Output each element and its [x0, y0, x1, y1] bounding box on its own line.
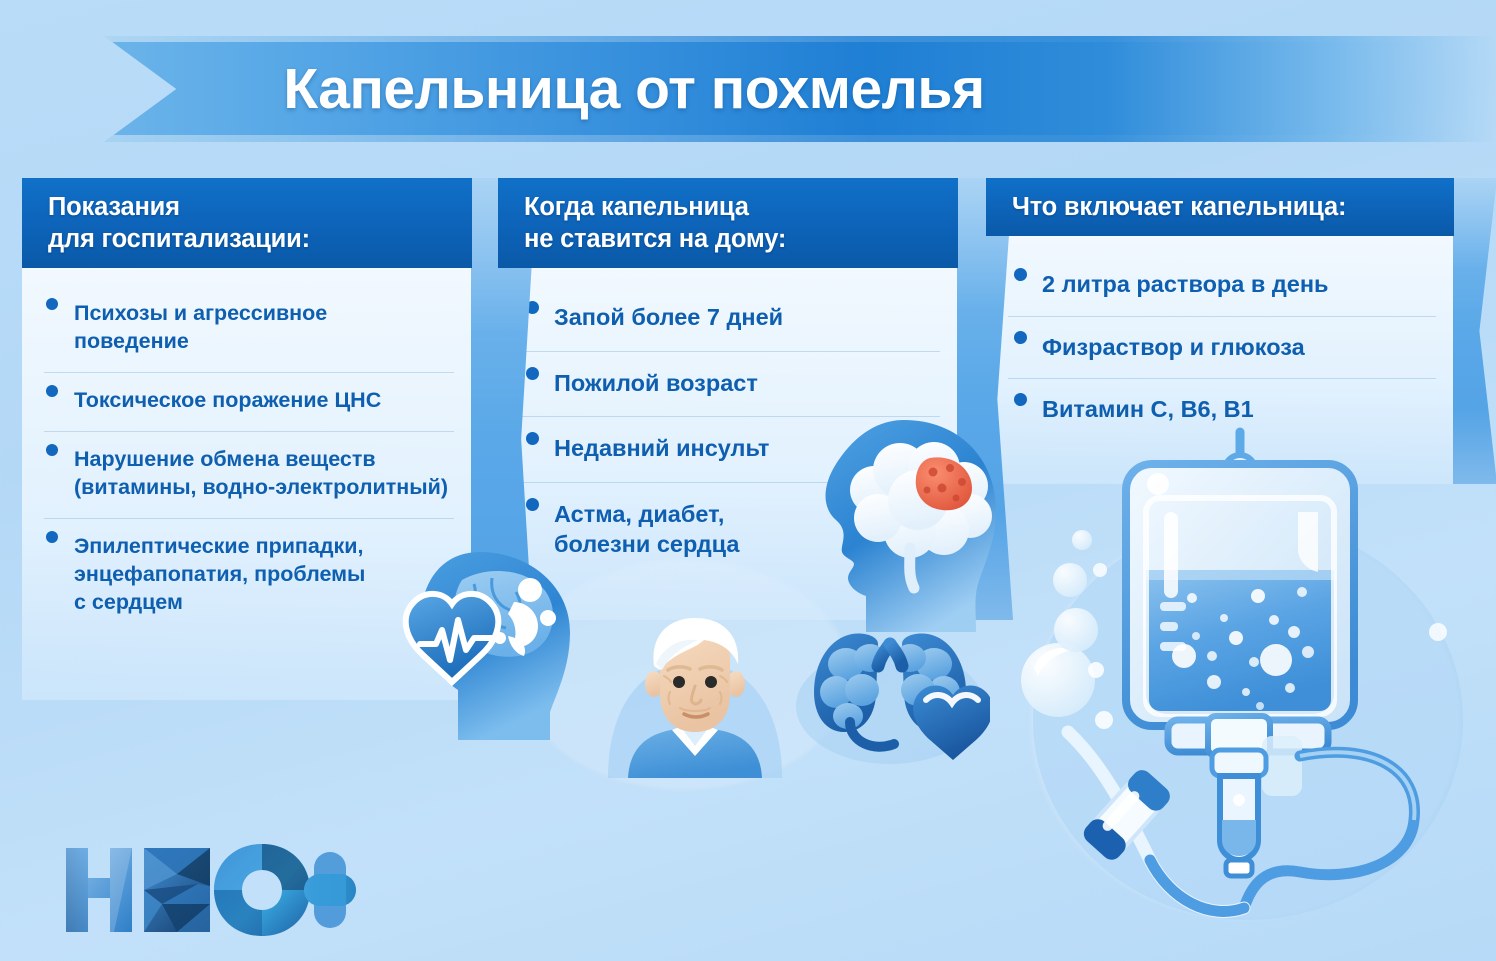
bullet-dot-icon	[46, 531, 58, 543]
list-item-label: Астма, диабет, болезни сердца	[554, 499, 936, 560]
panel-header-line: Когда капельница	[524, 191, 938, 223]
list-item-label: Психозы и агрессивное поведение	[74, 300, 450, 356]
contents-list: 2 литра раствора в день Физраствор и глю…	[1008, 254, 1436, 441]
panel-body-indications: Психозы и агрессивное поведение Токсичес…	[22, 268, 472, 700]
list-item-label: Нарушение обмена веществ (витамины, водн…	[74, 446, 450, 502]
panel-body-contraindications: Запой более 7 дней Пожилой возраст Недав…	[498, 268, 958, 620]
list-item[interactable]: Астма, диабет, болезни сердца	[520, 482, 940, 578]
header-tail-contents	[1453, 178, 1496, 484]
list-item-label: Физраствор и глюкоза	[1042, 332, 1432, 363]
panel-header-line: для госпитализации:	[48, 223, 452, 255]
bullet-dot-icon	[1014, 268, 1027, 281]
list-item[interactable]: Эпилептические припадки, энцефапопатия, …	[44, 518, 454, 633]
list-item-label: 2 литра раствора в день	[1042, 269, 1432, 300]
page-title: Капельница от похмелья	[104, 36, 1164, 142]
list-item[interactable]: Пожилой возраст	[520, 351, 940, 417]
panel-header-indications: Показания для госпитализации:	[22, 178, 472, 268]
list-item[interactable]: Психозы и агрессивное поведение	[44, 286, 454, 372]
brand-logo[interactable]	[58, 838, 358, 942]
bullet-dot-icon	[46, 444, 58, 456]
panel-contents: Что включает капельница: 2 литра раствор…	[986, 178, 1454, 484]
panel-header-contraindications: Когда капельница не ставится на дому:	[498, 178, 958, 268]
bullet-dot-icon	[46, 298, 58, 310]
list-item[interactable]: Нарушение обмена веществ (витамины, водн…	[44, 431, 454, 518]
background-blob-right	[1030, 520, 1460, 920]
list-item-label: Запой более 7 дней	[554, 302, 936, 333]
indications-list: Психозы и агрессивное поведение Токсичес…	[44, 286, 454, 633]
list-item[interactable]: Витамин С, В6, В1	[1008, 378, 1436, 441]
list-item-label: Витамин С, В6, В1	[1042, 394, 1432, 425]
list-item[interactable]: 2 литра раствора в день	[1008, 254, 1436, 316]
list-item-label: Эпилептические припадки, энцефапопатия, …	[74, 533, 450, 617]
bullet-dot-icon	[1014, 393, 1027, 406]
bullet-dot-icon	[46, 385, 58, 397]
elderly-person-icon	[600, 608, 790, 778]
list-item[interactable]: Запой более 7 дней	[520, 286, 940, 351]
bullet-dot-icon	[526, 432, 539, 445]
iv-drip-bag-icon	[1000, 420, 1496, 961]
lungs-heart-icon	[790, 610, 990, 770]
list-item-label: Пожилой возраст	[554, 368, 936, 399]
panel-header-line: Показания	[48, 191, 452, 223]
bullet-dot-icon	[1014, 331, 1027, 344]
title-banner: Капельница от похмелья	[104, 36, 1494, 142]
list-item-label: Недавний инсульт	[554, 433, 936, 464]
panel-body-contents: 2 литра раствора в день Физраствор и глю…	[986, 236, 1454, 484]
panel-header-line: не ставится на дому:	[524, 223, 938, 255]
list-item-label: Токсическое поражение ЦНС	[74, 387, 450, 415]
bullet-dot-icon	[526, 367, 539, 380]
contraindications-list: Запой более 7 дней Пожилой возраст Недав…	[520, 286, 940, 578]
panel-header-contents: Что включает капельница:	[986, 178, 1454, 236]
panel-indications: Показания для госпитализации: Психозы и …	[22, 178, 472, 700]
panel-header-line: Что включает капельница:	[1012, 191, 1434, 223]
list-item[interactable]: Недавний инсульт	[520, 416, 940, 482]
bullet-dot-icon	[526, 498, 539, 511]
list-item[interactable]: Физраствор и глюкоза	[1008, 316, 1436, 379]
list-item[interactable]: Токсическое поражение ЦНС	[44, 372, 454, 431]
panel-contraindications: Когда капельница не ставится на дому: За…	[498, 178, 958, 620]
